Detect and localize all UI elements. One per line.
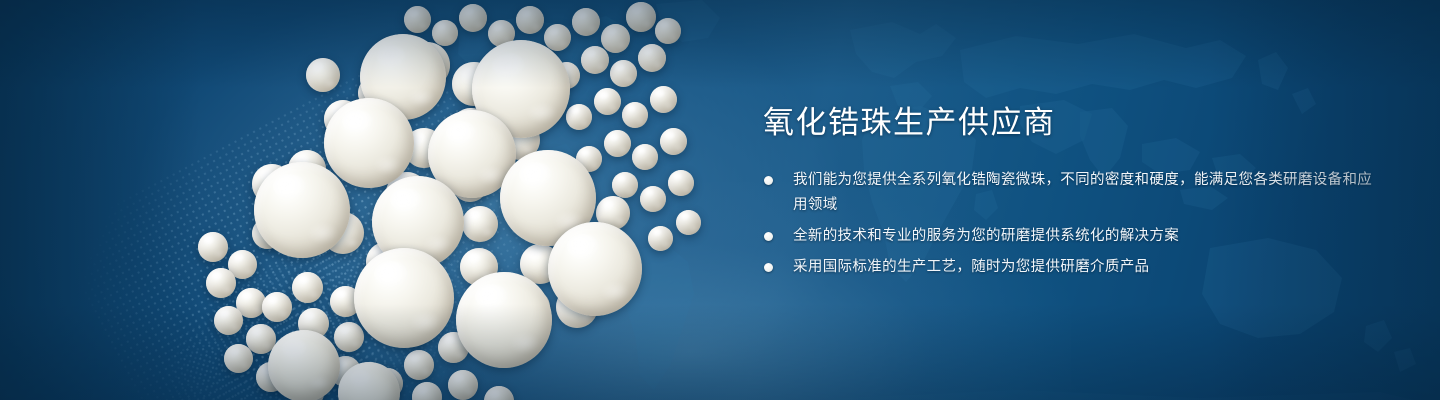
list-item-label: 全新的技术和专业的服务为您的研磨提供系统化的解决方案 bbox=[793, 224, 1383, 249]
bullet-dot-icon bbox=[764, 176, 773, 185]
list-item: 采用国际标准的生产工艺，随时为您提供研磨介质产品 bbox=[763, 255, 1383, 280]
list-item-label: 采用国际标准的生产工艺，随时为您提供研磨介质产品 bbox=[793, 255, 1383, 280]
page-title: 氧化锆珠生产供应商 bbox=[763, 104, 1383, 142]
banner-copy: 氧化锆珠生产供应商 我们能为您提供全系列氧化锆陶瓷微珠，不同的密度和硬度，能满足… bbox=[763, 104, 1383, 280]
list-item: 全新的技术和专业的服务为您的研磨提供系统化的解决方案 bbox=[763, 224, 1383, 249]
feature-bullet-list: 我们能为您提供全系列氧化锆陶瓷微珠，不同的密度和硬度，能满足您各类研磨设备和应用… bbox=[763, 168, 1383, 280]
list-item-label: 我们能为您提供全系列氧化锆陶瓷微珠，不同的密度和硬度，能满足您各类研磨设备和应用… bbox=[793, 168, 1383, 218]
bullet-dot-icon bbox=[764, 232, 773, 241]
hero-banner: 氧化锆珠生产供应商 我们能为您提供全系列氧化锆陶瓷微珠，不同的密度和硬度，能满足… bbox=[0, 0, 1440, 400]
bullet-dot-icon bbox=[764, 263, 773, 272]
list-item: 我们能为您提供全系列氧化锆陶瓷微珠，不同的密度和硬度，能满足您各类研磨设备和应用… bbox=[763, 168, 1383, 218]
